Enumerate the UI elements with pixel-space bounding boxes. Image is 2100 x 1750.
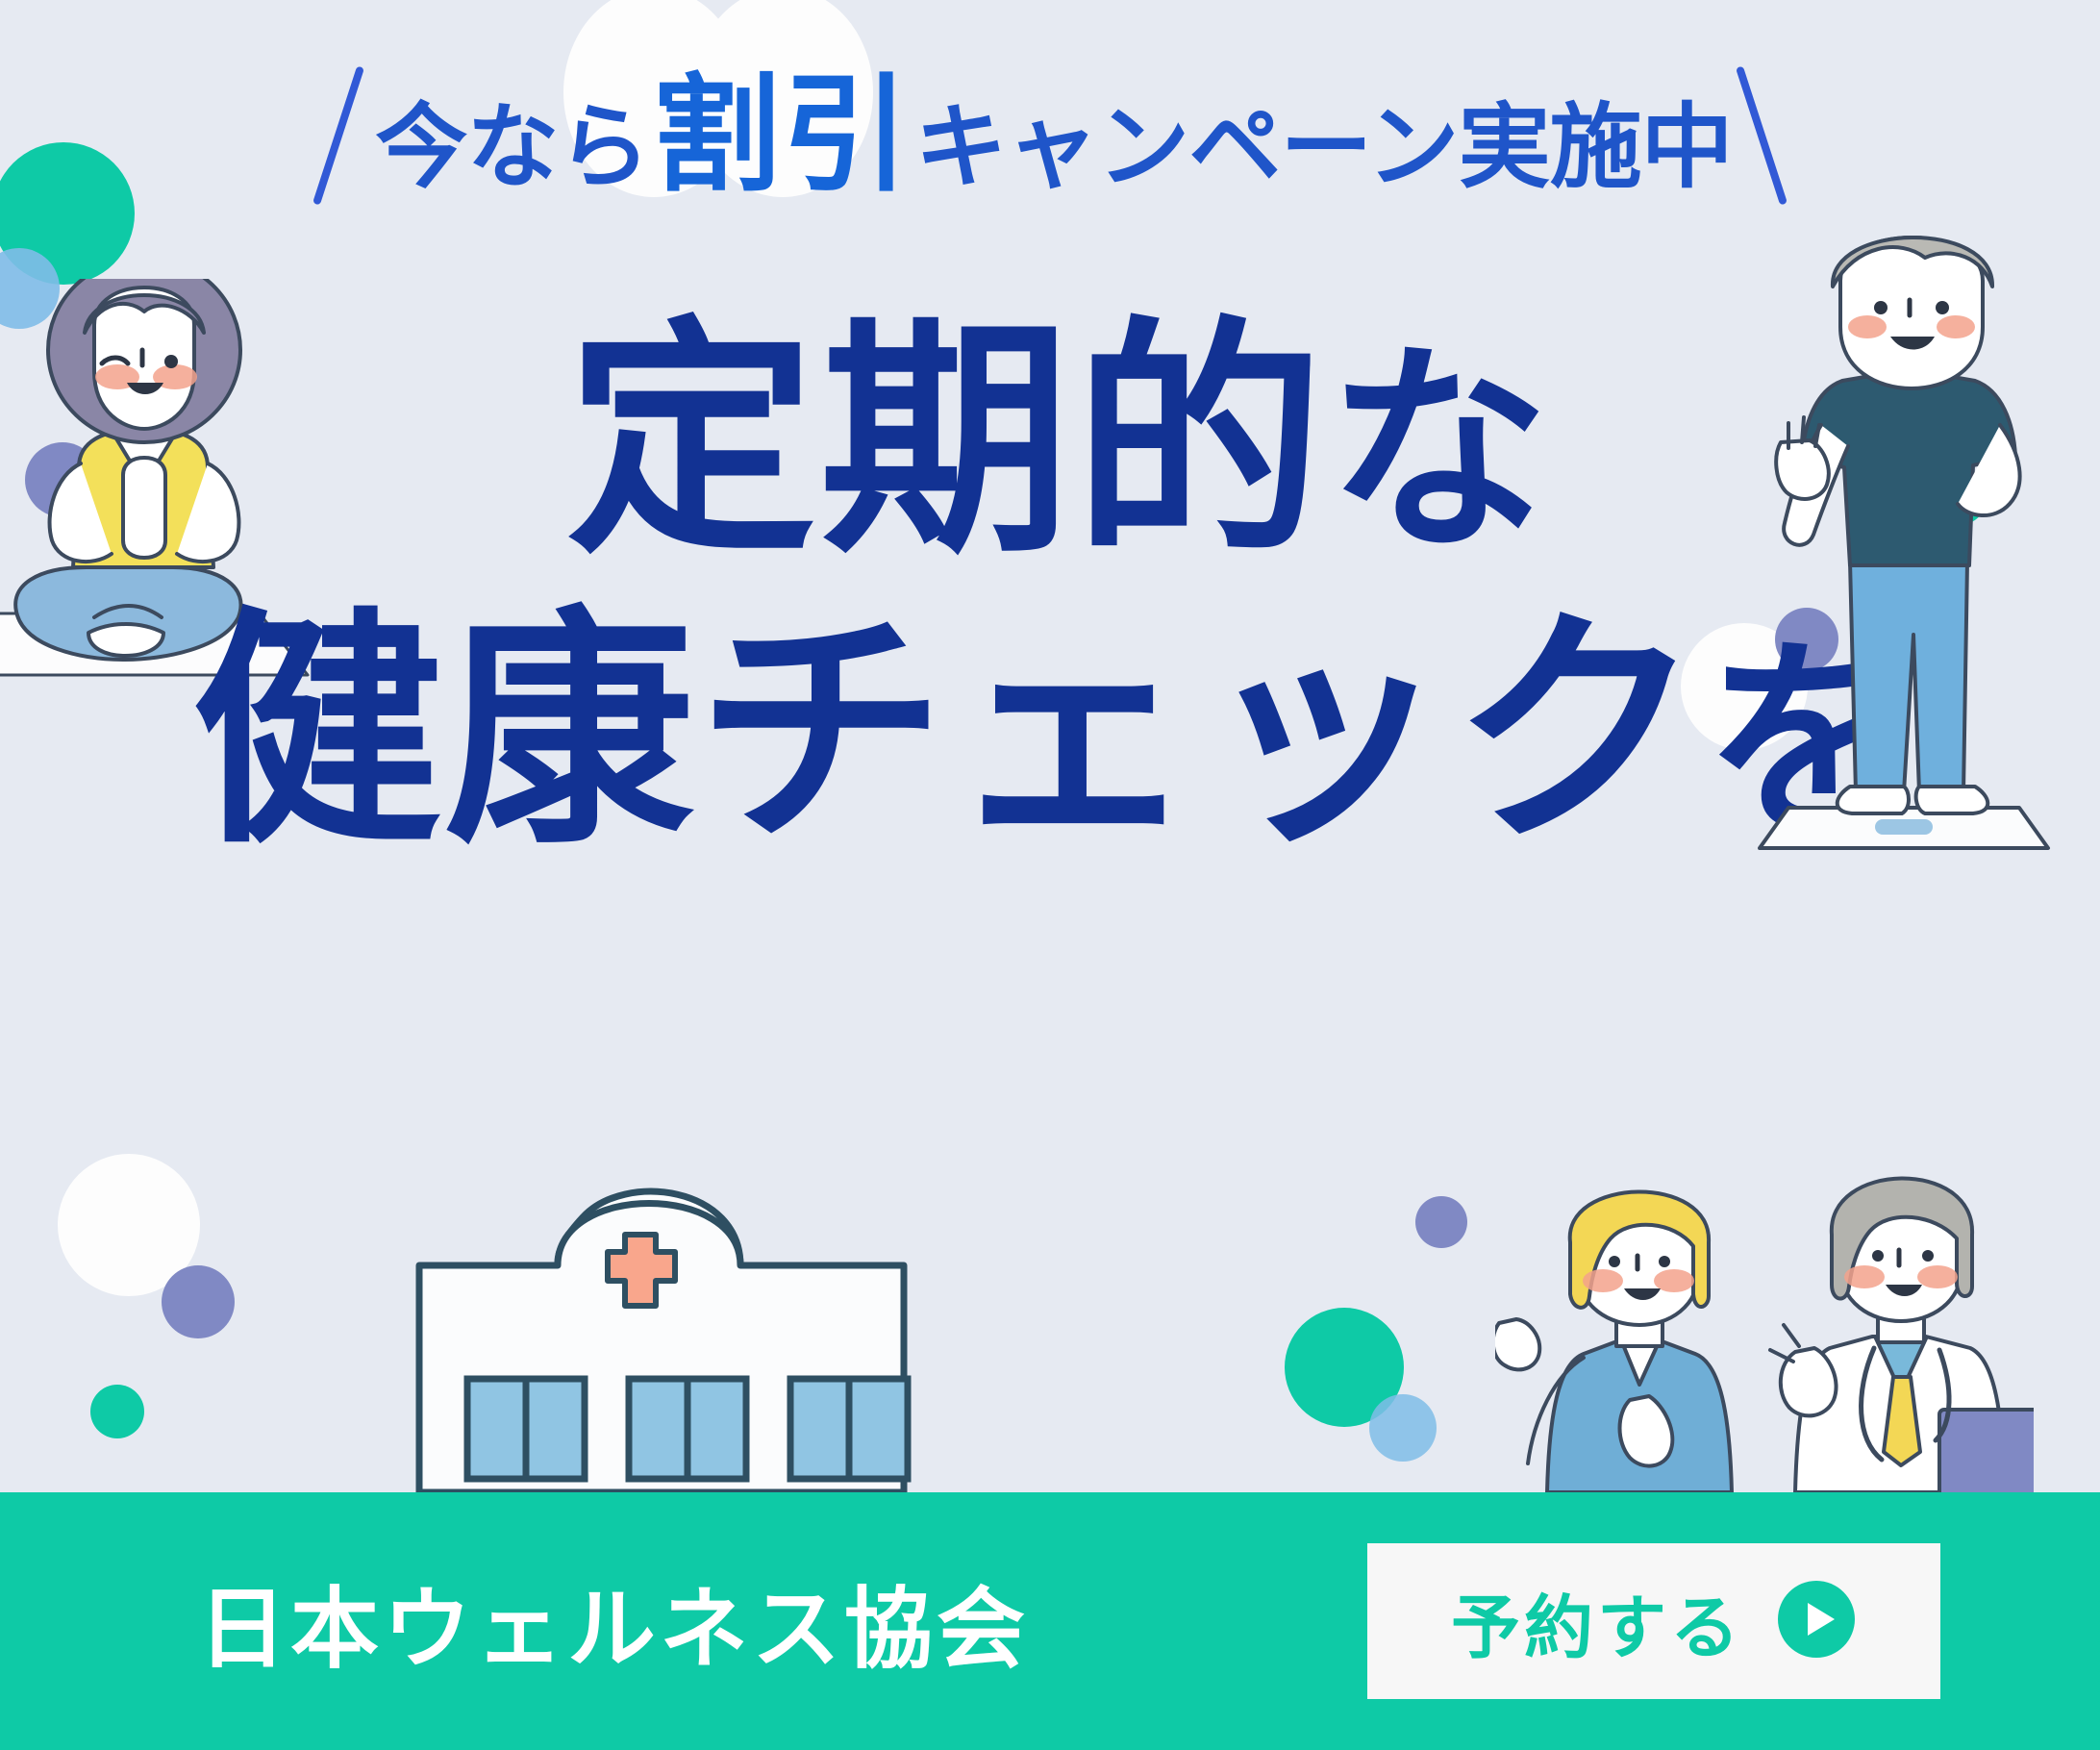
organization-name: 日本ウェルネス協会: [198, 1558, 1029, 1686]
headline-line2-kana: チェック: [696, 593, 1704, 872]
headline-line1-hira: な: [1328, 328, 1553, 575]
decor-dot-periwinkle-mid: [1415, 1196, 1467, 1248]
play-circle-icon: [1776, 1579, 1857, 1664]
campaign-eyebrow-text: 今なら 割引 キャンペーン実施中: [375, 72, 1732, 199]
hospital-building-illustration: [240, 1160, 952, 1492]
slash-left-decor: [312, 65, 364, 205]
headline-line2-kanji: 健康: [192, 593, 696, 872]
nurse-and-doctor-illustration: [1495, 1135, 2034, 1492]
eyebrow-emphasis: 割引: [649, 72, 914, 199]
decor-dot-green-small-left: [90, 1385, 144, 1438]
reserve-button-label: 予約する: [1451, 1571, 1743, 1672]
decor-dot-lightblue-mid: [1369, 1394, 1437, 1462]
headline-line1-kanji: 定期的: [566, 303, 1328, 582]
health-check-ad-banner: 今なら 割引 キャンペーン実施中: [0, 0, 2100, 1750]
campaign-eyebrow: 今なら 割引 キャンペーン実施中: [0, 44, 2100, 227]
eyebrow-prefix: 今なら: [375, 102, 649, 194]
slash-right-decor: [1736, 65, 1787, 205]
reserve-button[interactable]: 予約する: [1367, 1543, 1940, 1699]
eyebrow-suffix: キャンペーン実施中: [914, 102, 1732, 194]
footer-bar: 日本ウェルネス協会 予約する: [0, 1492, 2100, 1750]
decor-dot-periwinkle-left-low: [162, 1265, 235, 1338]
man-on-scale-illustration: [1721, 219, 2100, 873]
